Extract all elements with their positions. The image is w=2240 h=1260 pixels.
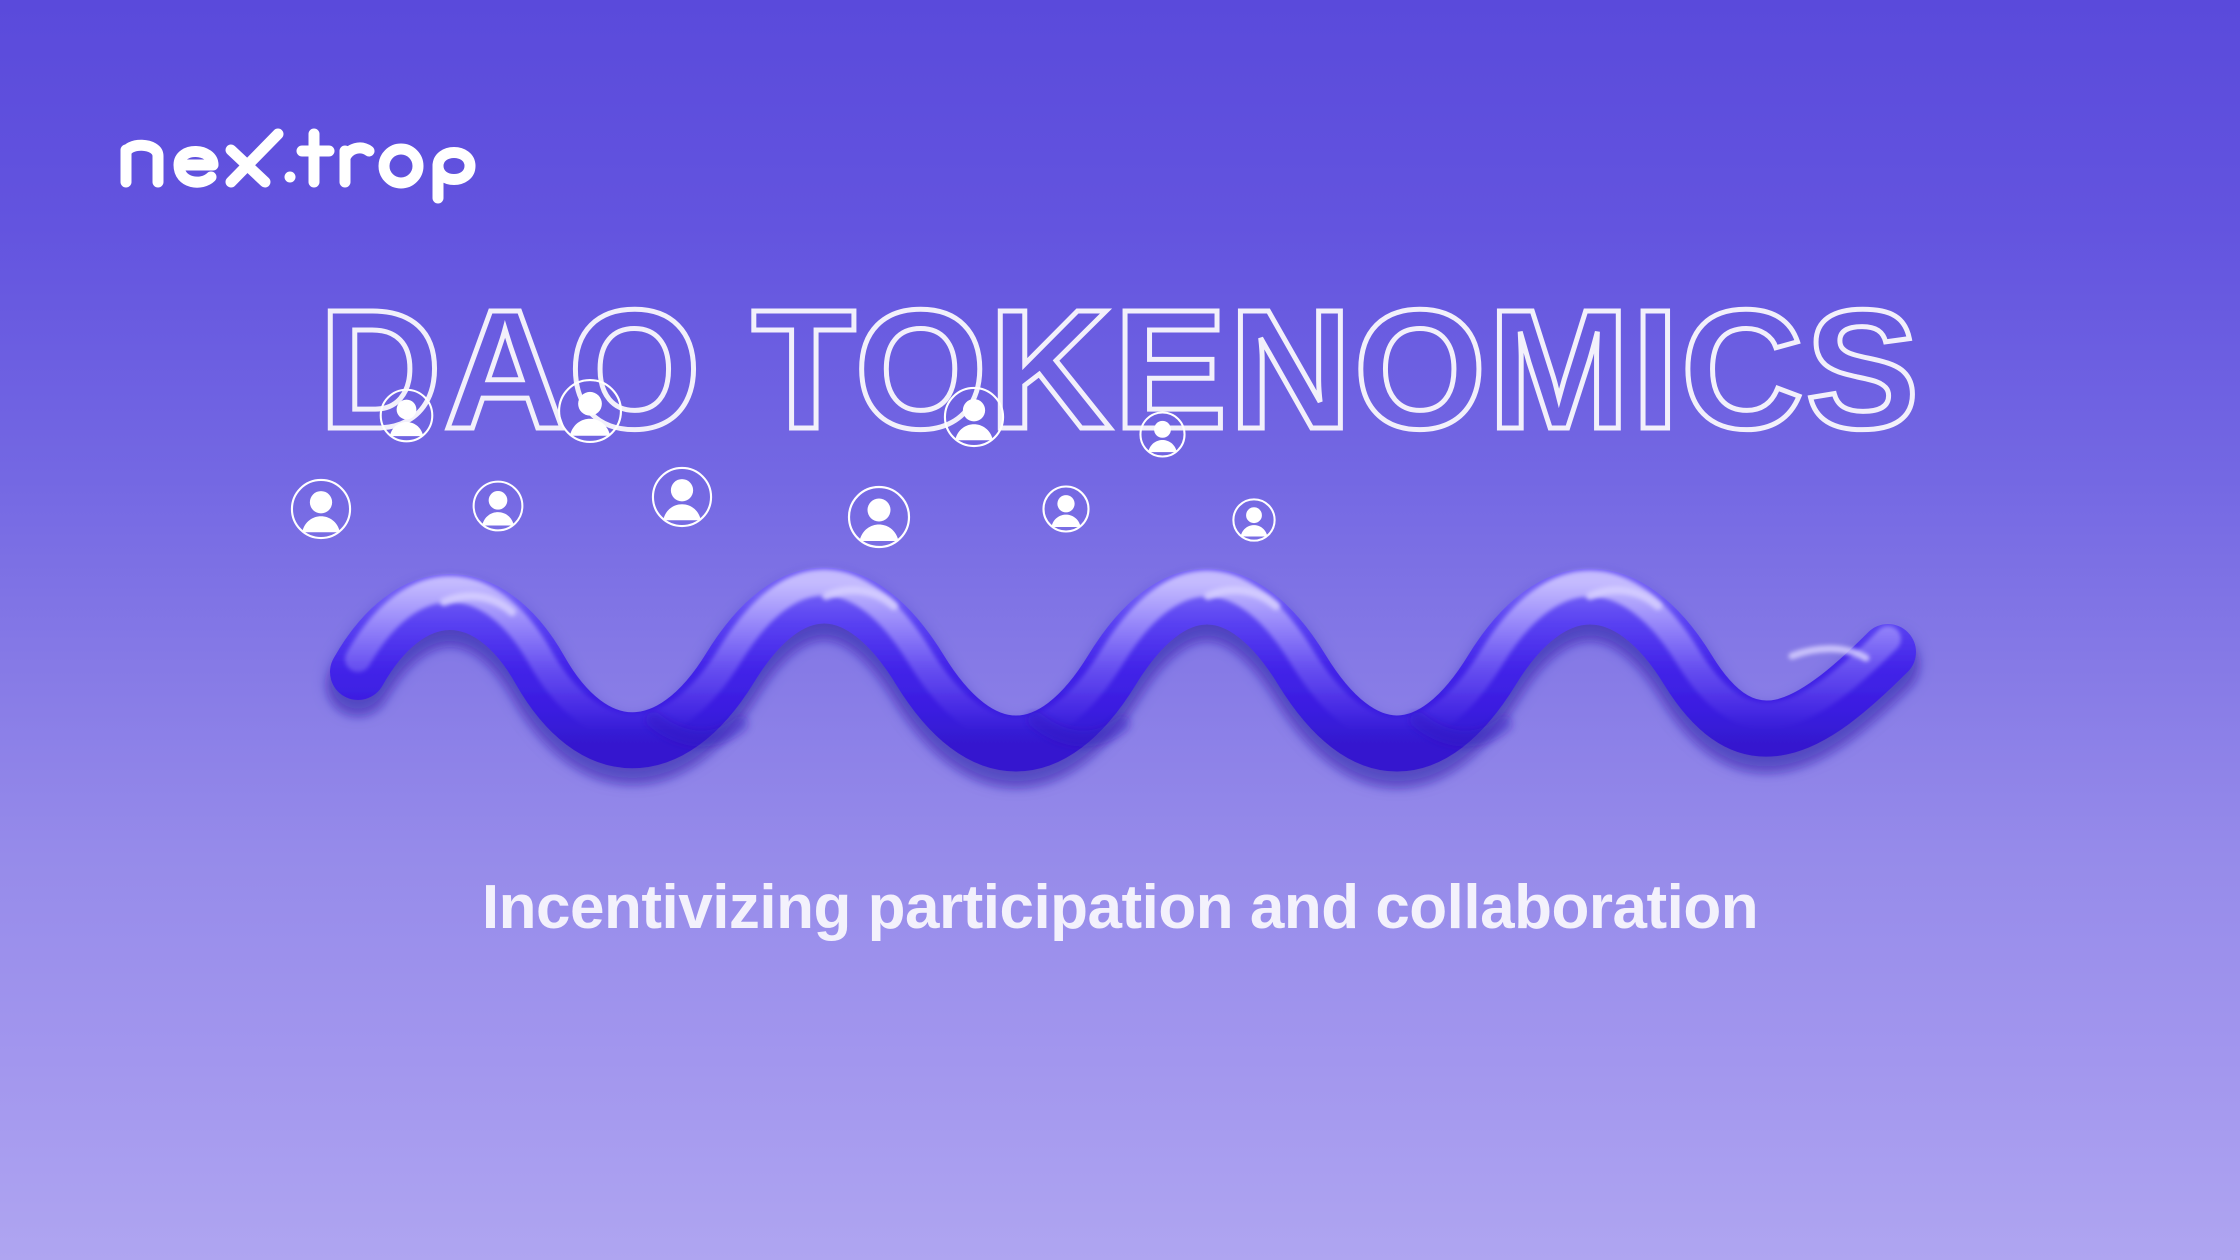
avatar-9[interactable] [1139, 411, 1186, 458]
glossy-wave-tube-icon [340, 520, 1910, 800]
avatar-3[interactable] [472, 480, 524, 532]
user-avatar-icon [557, 378, 623, 444]
user-avatar-icon [1139, 411, 1186, 458]
nextrope-wordmark-logo-icon [118, 120, 448, 192]
avatar-7[interactable] [943, 386, 1005, 448]
user-avatar-icon [472, 480, 524, 532]
user-avatar-icon [1232, 498, 1276, 542]
avatar-4[interactable] [557, 378, 623, 444]
slide-title-container: DAO TOKENOMICS [0, 296, 2240, 466]
page-title: DAO TOKENOMICS [310, 296, 1930, 461]
user-avatar-icon [651, 466, 713, 528]
nextrope-logo[interactable] [118, 120, 448, 192]
user-avatar-icon [290, 478, 352, 540]
presentation-slide: DAO TOKENOMICS [0, 0, 2240, 1260]
avatar-2[interactable] [379, 388, 434, 443]
avatar-10[interactable] [1232, 498, 1276, 542]
slide-subtitle: Incentivizing participation and collabor… [0, 872, 2240, 943]
user-avatar-icon [847, 485, 911, 549]
avatar-8[interactable] [1042, 485, 1090, 533]
avatar-6[interactable] [847, 485, 911, 549]
wave-illustration [340, 520, 1910, 800]
user-avatar-icon [1042, 485, 1090, 533]
avatar-1[interactable] [290, 478, 352, 540]
user-avatar-icon [943, 386, 1005, 448]
avatar-5[interactable] [651, 466, 713, 528]
user-avatar-icon [379, 388, 434, 443]
